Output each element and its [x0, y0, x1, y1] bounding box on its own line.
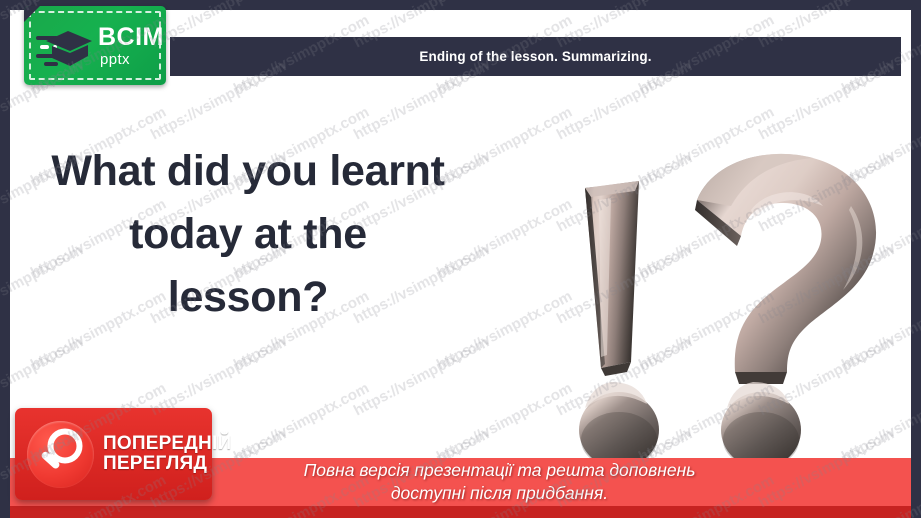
logo-brand-text: BCIM: [98, 25, 164, 50]
3d-exclamation-question-marks-graphic: [555, 140, 905, 460]
slide-header-title: Ending of the lesson. Summarizing.: [419, 49, 651, 64]
preview-badge-label: ПОПЕРЕДНІЙ ПЕРЕГЛЯД: [103, 434, 231, 474]
logo-subtitle-text: pptx: [100, 52, 164, 67]
bcim-pptx-logo[interactable]: BCIM pptx: [24, 6, 166, 85]
slide-question-text: What did you learnt today at the lesson?: [48, 140, 448, 330]
preview-badge-line1: ПОПЕРЕДНІЙ: [103, 434, 231, 454]
graduation-cap-icon: [36, 22, 96, 70]
logo-corner-fold: [24, 6, 40, 22]
presentation-slide: What did you learnt today at the lesson?…: [0, 0, 921, 518]
magnifier-icon: [27, 421, 94, 488]
slide-header-bar: Ending of the lesson. Summarizing.: [170, 37, 901, 76]
banner-bottom-strip: [10, 506, 911, 518]
preview-badge-line2: ПЕРЕГЛЯД: [103, 454, 231, 474]
preview-badge[interactable]: ПОПЕРЕДНІЙ ПЕРЕГЛЯД: [15, 408, 212, 500]
